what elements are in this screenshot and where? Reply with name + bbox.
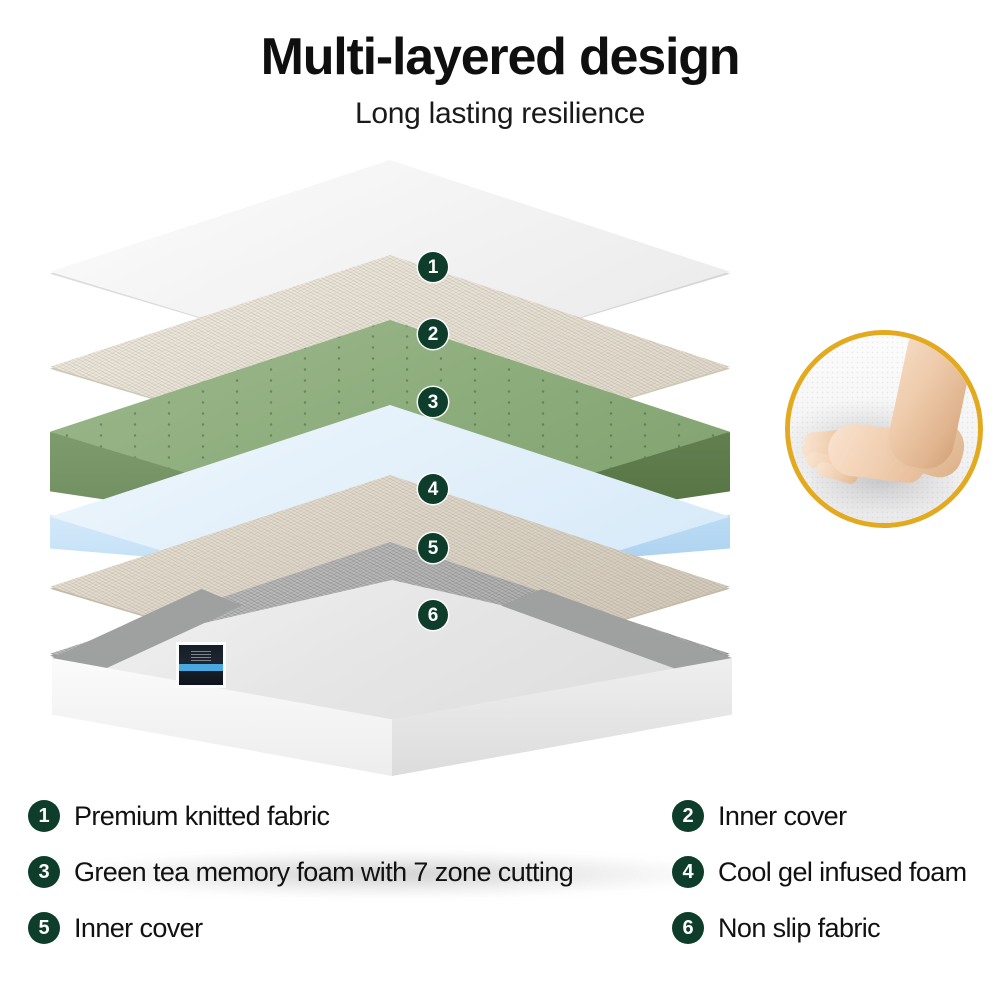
legend-badge-4: 4 xyxy=(672,856,704,888)
legend-item-4: 4 Cool gel infused foam xyxy=(672,846,992,898)
callout-badge-6: 6 xyxy=(418,600,448,630)
product-infographic: Multi-layered design Long lasting resili… xyxy=(0,0,1000,1000)
legend: 1 Premium knitted fabric 3 Green tea mem… xyxy=(0,790,1000,970)
mattress-brand-tag xyxy=(176,642,226,688)
legend-column-left: 1 Premium knitted fabric 3 Green tea mem… xyxy=(28,790,668,958)
legend-column-right: 2 Inner cover 4 Cool gel infused foam 6 … xyxy=(672,790,992,958)
legend-item-5: 5 Inner cover xyxy=(28,902,668,954)
callout-badge-1: 1 xyxy=(418,252,448,282)
mattress-base xyxy=(42,580,742,790)
hand-press-foam-photo xyxy=(785,330,983,528)
legend-item-1: 1 Premium knitted fabric xyxy=(28,790,668,842)
page-title: Multi-layered design xyxy=(0,0,1000,85)
callout-badge-5: 5 xyxy=(418,533,448,563)
legend-label-2: Inner cover xyxy=(718,801,846,832)
legend-badge-5: 5 xyxy=(28,912,60,944)
legend-label-5: Inner cover xyxy=(74,913,202,944)
callout-badge-4: 4 xyxy=(418,474,448,504)
brand-tag-stripe xyxy=(179,664,223,671)
legend-badge-3: 3 xyxy=(28,856,60,888)
legend-label-6: Non slip fabric xyxy=(718,913,880,944)
legend-item-6: 6 Non slip fabric xyxy=(672,902,992,954)
legend-item-2: 2 Inner cover xyxy=(672,790,992,842)
legend-badge-1: 1 xyxy=(28,800,60,832)
brand-logo-icon xyxy=(191,650,211,661)
callout-badge-3: 3 xyxy=(418,387,448,417)
callout-badge-2: 2 xyxy=(418,319,448,349)
exploded-layer-diagram: 1 2 3 4 5 6 xyxy=(0,150,790,770)
legend-label-4: Cool gel infused foam xyxy=(718,857,967,888)
mattress-brand-tag-label xyxy=(179,645,223,685)
legend-badge-2: 2 xyxy=(672,800,704,832)
legend-label-3: Green tea memory foam with 7 zone cuttin… xyxy=(74,857,573,888)
page-subtitle: Long lasting resilience xyxy=(0,85,1000,131)
header: Multi-layered design Long lasting resili… xyxy=(0,0,1000,131)
legend-item-3: 3 Green tea memory foam with 7 zone cutt… xyxy=(28,846,668,898)
legend-label-1: Premium knitted fabric xyxy=(74,801,329,832)
legend-badge-6: 6 xyxy=(672,912,704,944)
